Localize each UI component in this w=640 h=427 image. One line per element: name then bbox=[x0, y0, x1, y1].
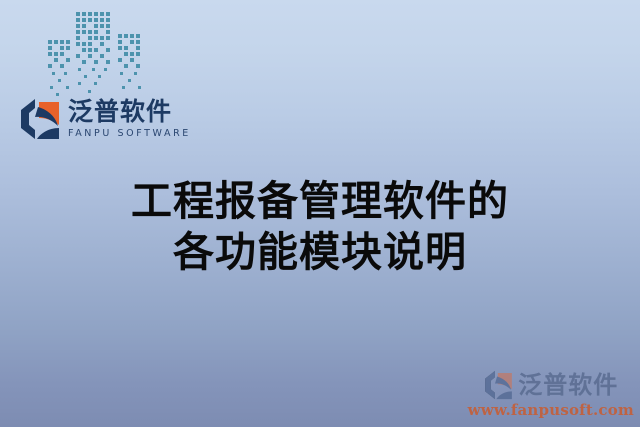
brand-logo: 泛普软件 FANPU SOFTWARE bbox=[18, 98, 191, 140]
brand-name-en: FANPU SOFTWARE bbox=[68, 129, 191, 139]
fanpu-logo-mark-icon bbox=[18, 98, 62, 140]
watermark-url: www.fanpusoft.com bbox=[468, 401, 634, 419]
watermark-logo-row: 泛普软件 bbox=[483, 370, 618, 400]
brand-text: 泛普软件 FANPU SOFTWARE bbox=[68, 99, 191, 139]
watermark-name-cn: 泛普软件 bbox=[518, 373, 618, 397]
slide-canvas: 泛普软件 FANPU SOFTWARE 工程报备管理软件的 各功能模块说明 泛普… bbox=[0, 0, 640, 427]
page-title-line-1: 工程报备管理软件的 bbox=[0, 176, 640, 227]
page-title: 工程报备管理软件的 各功能模块说明 bbox=[0, 176, 640, 278]
watermark: 泛普软件 www.fanpusoft.com bbox=[468, 370, 634, 419]
pixel-building-skyline-icon bbox=[48, 6, 144, 98]
brand-name-cn: 泛普软件 bbox=[68, 99, 191, 124]
fanpu-watermark-mark-icon bbox=[483, 370, 514, 400]
page-title-line-2: 各功能模块说明 bbox=[0, 227, 640, 278]
